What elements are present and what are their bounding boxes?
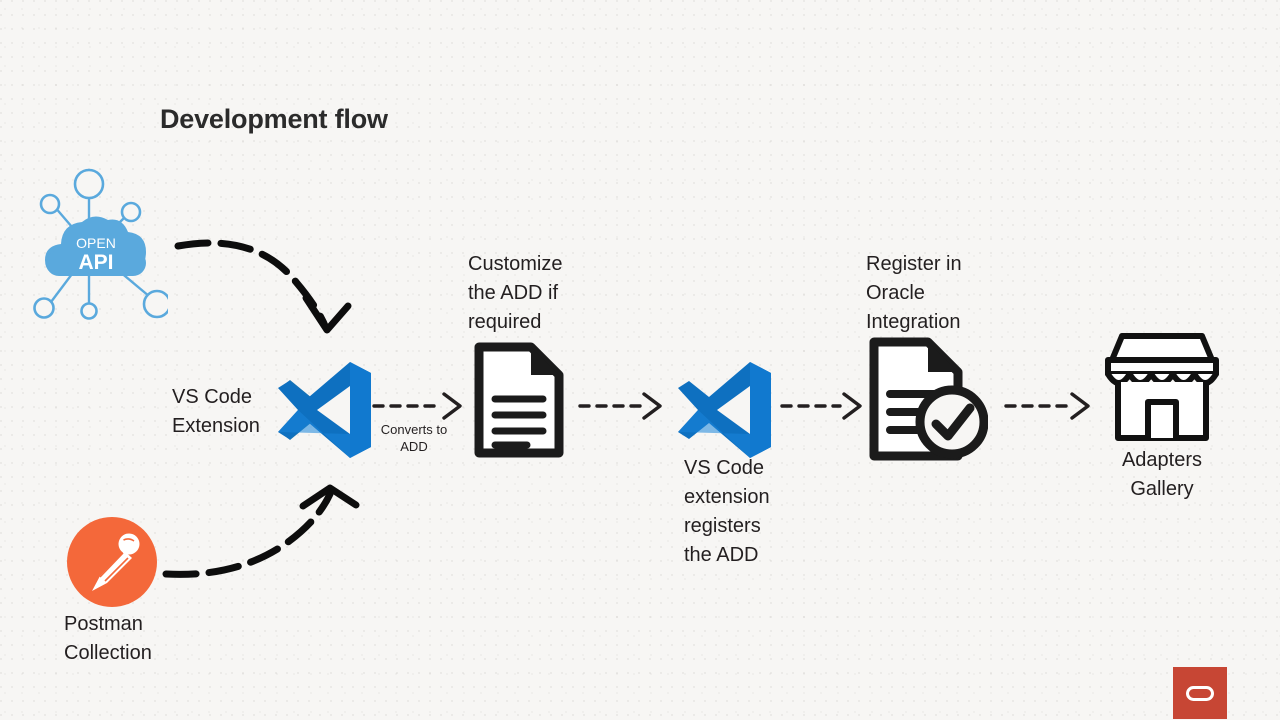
connector-vscode2-to-register [780,390,864,422]
document-check-icon [866,334,988,464]
openapi-cloud-icon: OPEN API [18,168,168,326]
connector-register-to-gallery [1004,390,1092,422]
postman-icon [67,517,157,607]
connector-postman-to-vscode [160,478,370,590]
openapi-top-text: OPEN [76,235,116,251]
postman-label: Postman Collection [64,610,152,668]
adapters-gallery-label: Adapters Gallery [1100,446,1224,504]
converts-to-add-label: Converts to ADD [368,421,460,455]
vscode-registers-label: VS Code extension registers the ADD [684,454,770,570]
oracle-oval-mark [1186,686,1214,701]
connector-vscode-to-document [372,390,464,422]
customize-add-label: Customize the ADD if required [468,250,562,337]
openapi-bottom-text: API [78,251,113,274]
vscode-icon [672,358,776,462]
page-title: Development flow [160,104,388,135]
oracle-logo [1173,667,1227,719]
store-icon [1098,330,1226,444]
slide-canvas: Development flow OPEN [0,0,1280,720]
document-icon [469,337,569,463]
register-oracle-label: Register in Oracle Integration [866,250,962,337]
vscode-extension-label: VS Code Extension [172,383,260,441]
connector-document-to-vscode2 [578,390,664,422]
vscode-icon [272,358,376,462]
connector-openapi-to-vscode [170,228,370,338]
